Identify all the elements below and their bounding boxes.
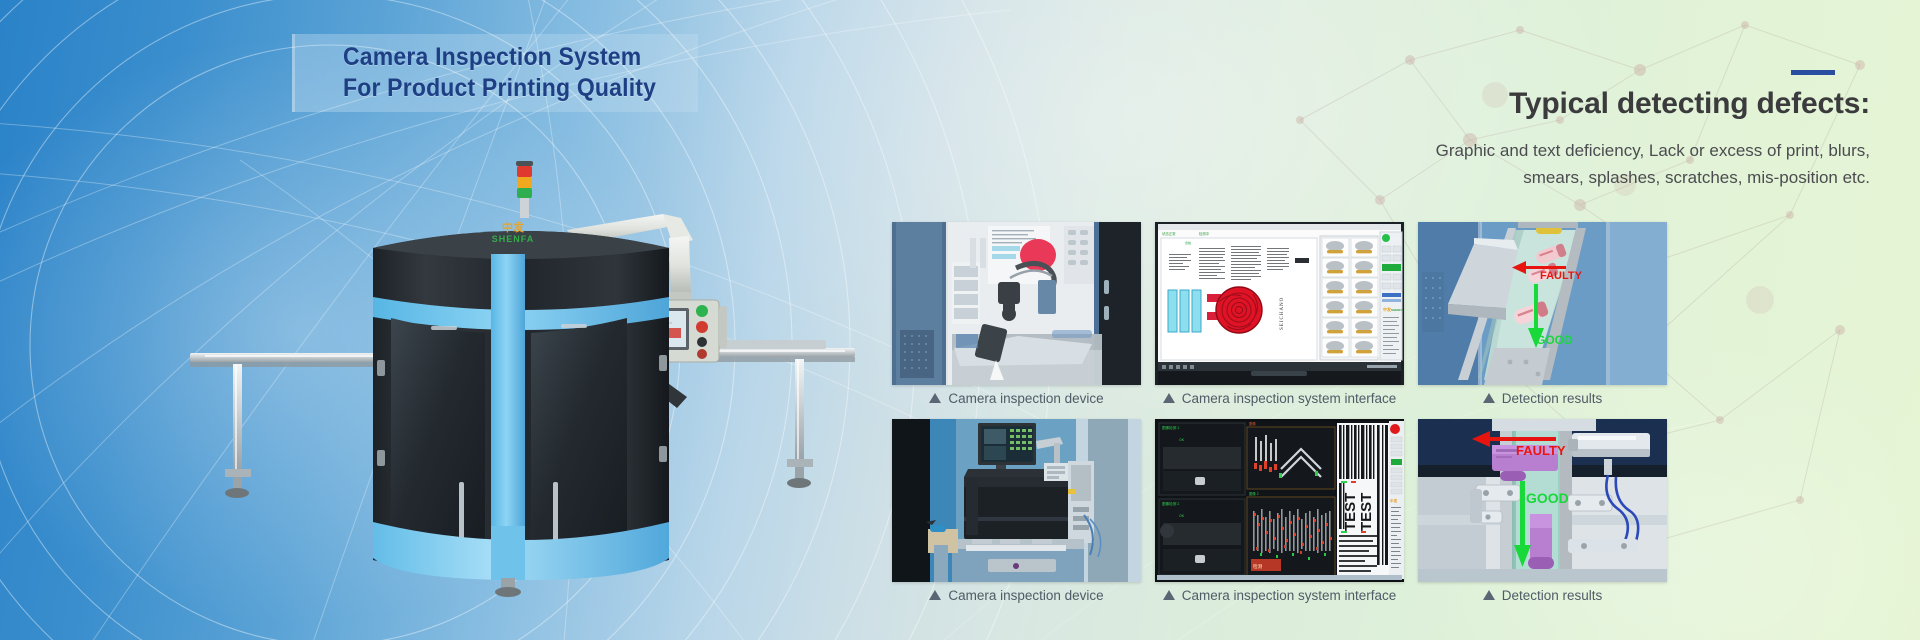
photo-detection-results-sorting: FAULTY GOOD <box>1418 419 1667 582</box>
triangle-up-icon <box>1483 590 1495 600</box>
photo-detection-results-conveyor: FAULTY GOOD <box>1418 222 1667 385</box>
gallery-caption: Camera inspection system interface <box>1155 582 1404 608</box>
machine-cabinet <box>373 231 669 597</box>
svg-text:FAULTY: FAULTY <box>1516 443 1566 458</box>
gallery-row: Camera inspection device 图像检测 <box>892 419 1668 608</box>
svg-text:中发: 中发 <box>1383 306 1391 312</box>
triangle-up-icon <box>929 590 941 600</box>
gallery-caption-text: Detection results <box>1502 588 1603 603</box>
svg-text:FAULTY: FAULTY <box>1540 270 1583 282</box>
svg-text:图像: 图像 <box>1249 421 1256 426</box>
gallery-caption: Camera inspection system interface <box>1155 385 1404 411</box>
conveyor-left <box>190 353 390 498</box>
inspection-machine-illustration: 中发 SHENFA <box>195 150 855 620</box>
gallery-caption-text: Camera inspection device <box>948 588 1103 603</box>
triangle-up-icon <box>929 393 941 403</box>
gallery-caption-text: Detection results <box>1502 391 1603 406</box>
defects-panel: Typical detecting defects: Graphic and t… <box>1150 70 1870 191</box>
svg-text:SHENFA: SHENFA <box>1391 308 1404 312</box>
hero-banner: Camera Inspection System For Product Pri… <box>0 0 1920 640</box>
svg-text:中发: 中发 <box>1390 498 1398 503</box>
thumbnail-detection-results[interactable]: FAULTY GOOD <box>1418 222 1667 385</box>
gallery-caption: Camera inspection device <box>892 385 1141 411</box>
gallery-caption: Detection results <box>1418 582 1667 608</box>
svg-text:OK: OK <box>1179 438 1185 442</box>
gallery-cell[interactable]: 图像检测 1 图像检测 2 OKOK <box>1155 419 1404 608</box>
triangle-up-icon <box>1163 393 1175 403</box>
gallery-cell[interactable]: FAULTY GOOD <box>1418 419 1667 608</box>
svg-text:中发: 中发 <box>502 220 525 234</box>
svg-text:检测: 检测 <box>1253 563 1263 570</box>
svg-text:SEICHANO: SEICHANO <box>1280 297 1285 330</box>
banner-title-line-1: Camera Inspection System <box>343 42 670 73</box>
thumbnail-software-interface[interactable]: 状态正常 检测中 合格 <box>1155 222 1404 385</box>
defects-description-line-1: Graphic and text deficiency, Lack or exc… <box>1280 137 1870 164</box>
thumbnail-device-monitor[interactable] <box>892 419 1141 582</box>
gallery-cell[interactable]: Camera inspection device <box>892 419 1141 608</box>
svg-text:OK: OK <box>1179 514 1185 518</box>
gallery-caption: Detection results <box>1418 385 1667 411</box>
svg-text:图像检测 1: 图像检测 1 <box>1162 425 1179 430</box>
stack-light <box>516 161 533 218</box>
svg-text:GOOD: GOOD <box>1536 333 1573 347</box>
triangle-up-icon <box>1163 590 1175 600</box>
gallery-caption-text: Camera inspection system interface <box>1182 391 1397 406</box>
svg-text:图像检测 2: 图像检测 2 <box>1162 501 1179 506</box>
defects-description: Graphic and text deficiency, Lack or exc… <box>1150 137 1870 191</box>
svg-text:TEST: TEST <box>1342 493 1359 531</box>
photo-inspection-software-screen: 状态正常 检测中 合格 <box>1155 222 1404 385</box>
thumbnail-software-interface-test[interactable]: 图像检测 1 图像检测 2 OKOK <box>1155 419 1404 582</box>
photo-camera-inspection-device <box>892 222 1141 385</box>
gallery-caption-text: Camera inspection system interface <box>1182 588 1397 603</box>
gallery-row: Camera inspection device 状态正常 检测中 <box>892 222 1668 411</box>
svg-text:TEST: TEST <box>1358 493 1375 531</box>
photo-camera-inspection-device-station <box>892 419 1141 582</box>
svg-text:状态正常: 状态正常 <box>1162 231 1176 236</box>
gallery-grid: Camera inspection device 状态正常 检测中 <box>892 222 1668 608</box>
svg-text:合格: 合格 <box>1185 240 1191 245</box>
accent-underline <box>1791 70 1835 75</box>
gallery-caption-text: Camera inspection device <box>948 391 1103 406</box>
svg-text:GOOD: GOOD <box>1526 490 1569 506</box>
defects-description-line-2: smears, splashes, scratches, mis-positio… <box>1280 164 1870 191</box>
svg-text:检测中: 检测中 <box>1199 231 1210 236</box>
banner-title-box: Camera Inspection System For Product Pri… <box>292 34 698 112</box>
svg-text:图像 2: 图像 2 <box>1249 491 1259 496</box>
banner-title-line-2: For Product Printing Quality <box>343 73 670 104</box>
photo-inspection-software-test-screen: 图像检测 1 图像检测 2 OKOK <box>1155 419 1404 582</box>
gallery-cell[interactable]: 状态正常 检测中 合格 <box>1155 222 1404 411</box>
triangle-up-icon <box>1483 393 1495 403</box>
svg-text:SHENFA: SHENFA <box>492 234 535 244</box>
thumbnail-device-interior[interactable] <box>892 222 1141 385</box>
gallery-caption: Camera inspection device <box>892 582 1141 608</box>
defects-heading: Typical detecting defects: <box>1150 87 1870 121</box>
product-good <box>1528 514 1554 569</box>
gallery-cell[interactable]: Camera inspection device <box>892 222 1141 411</box>
gallery-cell[interactable]: FAULTY GOOD <box>1418 222 1667 411</box>
thumbnail-detection-results-2[interactable]: FAULTY GOOD <box>1418 419 1667 582</box>
